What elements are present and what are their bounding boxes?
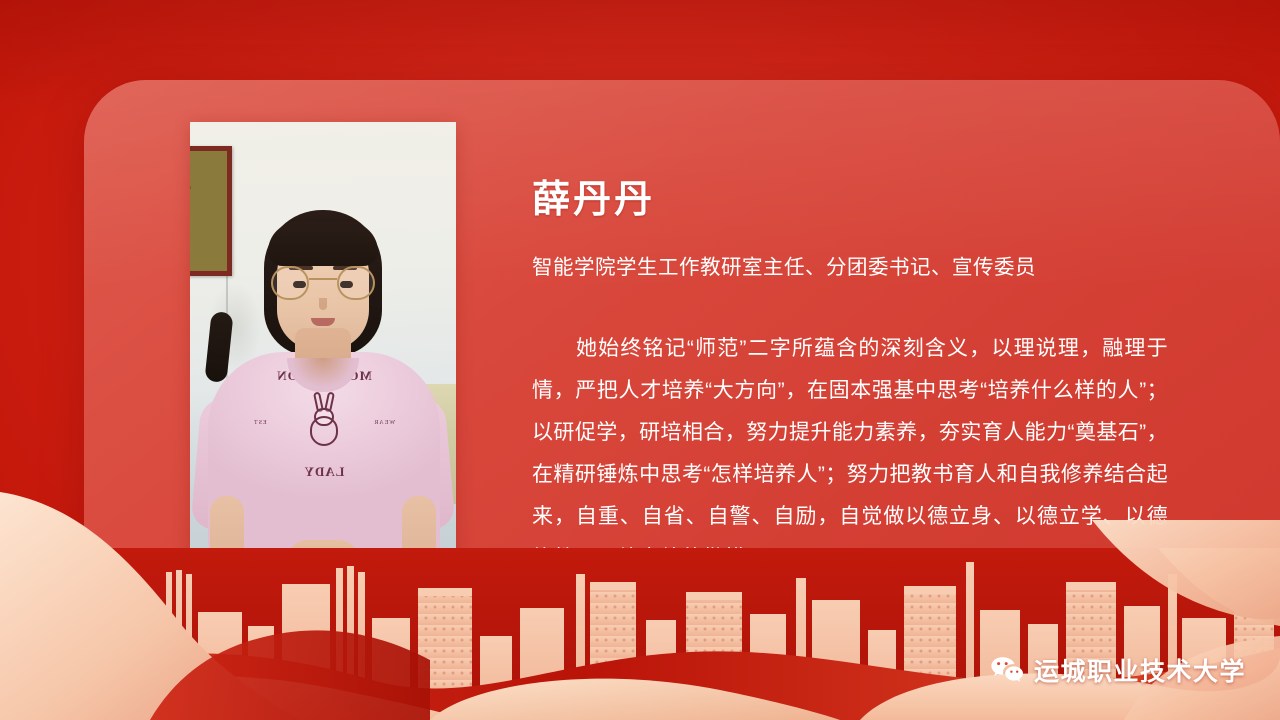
- right-ribbon-sweep: [1020, 520, 1280, 720]
- person-glasses: [271, 266, 375, 300]
- watermark: 运城职业技术大学: [990, 652, 1246, 688]
- watermark-label: 运城职业技术大学: [1034, 652, 1246, 688]
- left-ribbon-sweep: [0, 470, 430, 720]
- page-title: 薛丹丹: [532, 168, 655, 223]
- slide-canvas: MOTIVATION WEAR EST LADY: [0, 0, 1280, 720]
- bunny-icon: [304, 394, 344, 446]
- wechat-icon: [990, 656, 1024, 684]
- tshirt-print-left-text: WEAR: [373, 420, 395, 426]
- profile-titles: 智能学院学生工作教研室主任、分团委书记、宣传委员: [532, 250, 1036, 280]
- person-nose: [319, 298, 327, 310]
- person-ponytail: [204, 311, 233, 383]
- person-fringe: [268, 222, 378, 266]
- tshirt-print-right-text: EST: [253, 420, 267, 426]
